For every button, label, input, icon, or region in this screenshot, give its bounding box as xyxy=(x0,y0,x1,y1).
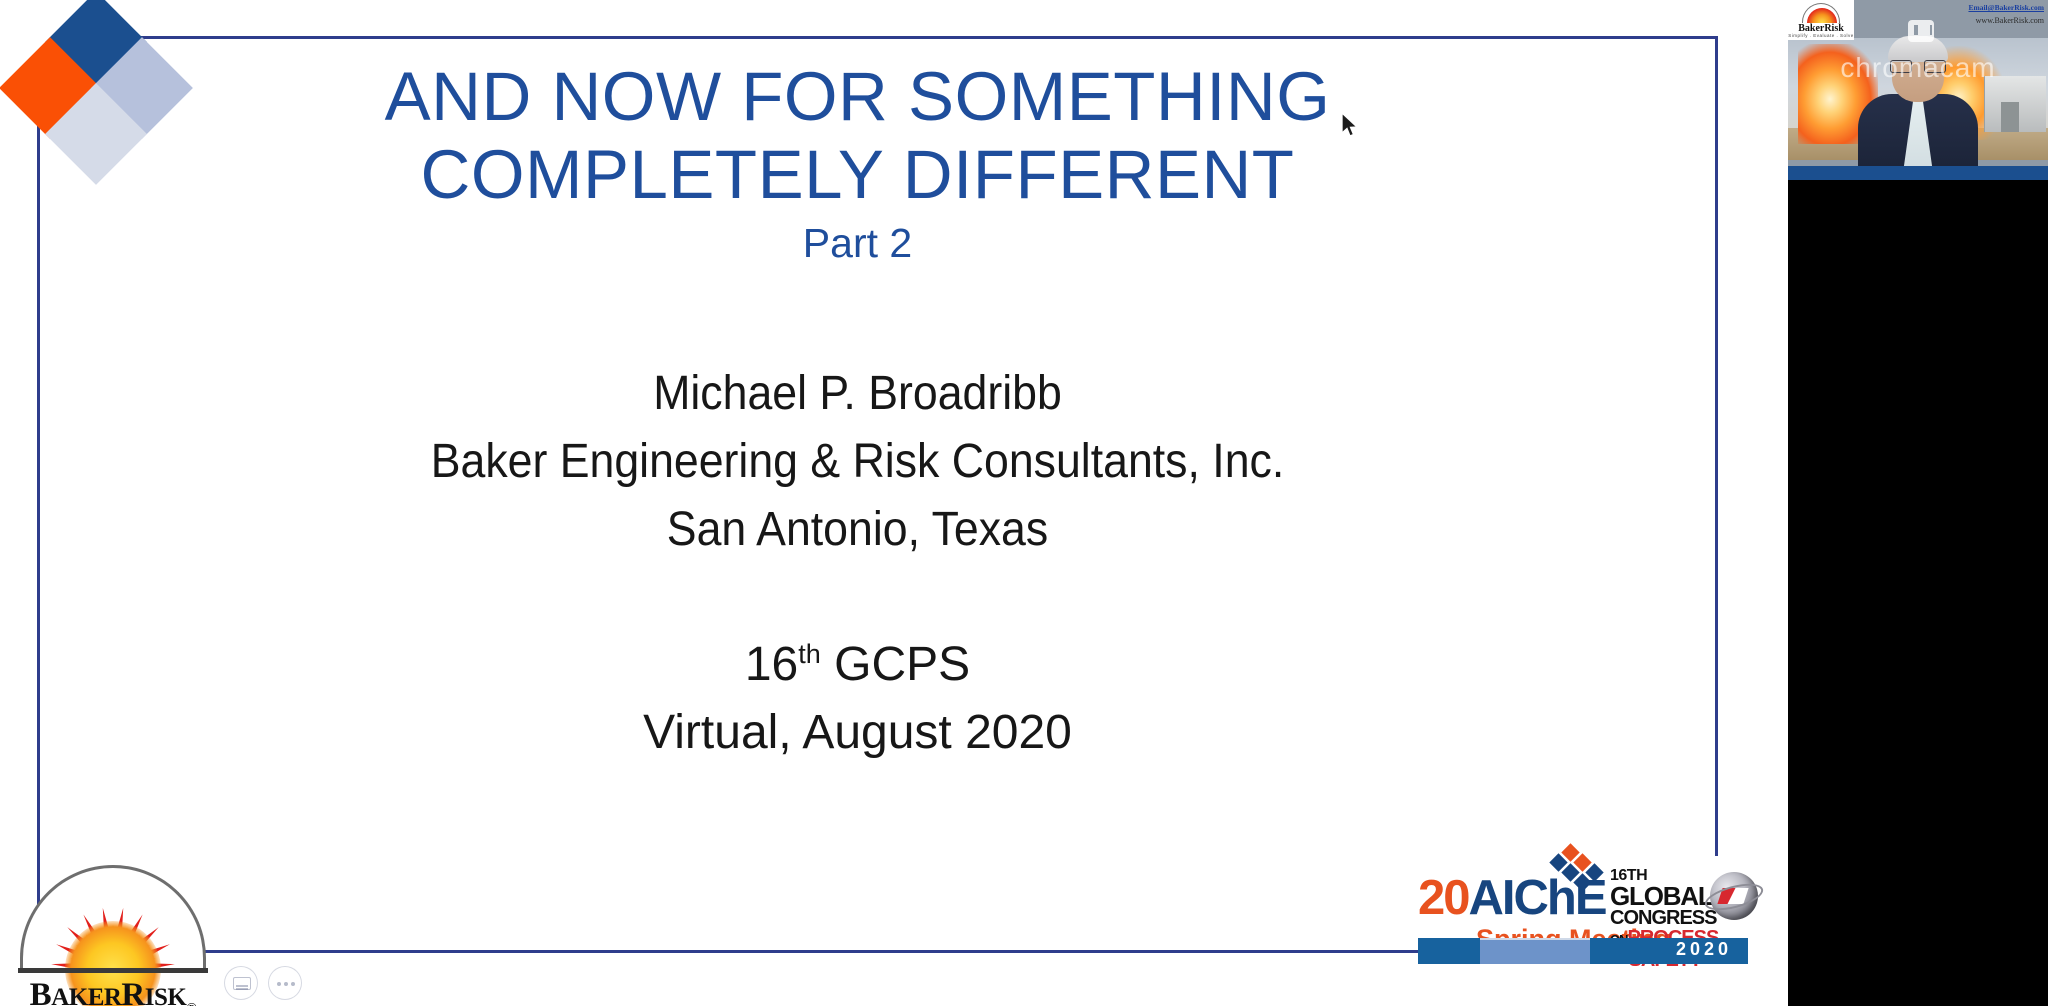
bakerrisk-word-isk: ISK xyxy=(145,984,187,1006)
chromacam-badge-icon xyxy=(1908,20,1934,42)
gcps-global-label: GLOBAL xyxy=(1610,884,1720,908)
aiche-bar-segment-1 xyxy=(1418,938,1480,964)
right-black-panel: BakerRisk Simplify . Evaluate . Solve Em… xyxy=(1788,0,2048,1006)
ellipsis-icon xyxy=(277,982,295,986)
bakerrisk-wordmark: BAKERRISK® xyxy=(8,977,218,1006)
slide-title-line-1: AND NOW FOR SOMETHING xyxy=(0,58,1715,136)
screen: AND NOW FOR SOMETHING COMPLETELY DIFFERE… xyxy=(0,0,2048,1006)
video-contact-links: Email@BakerRisk.com www.BakerRisk.com xyxy=(1968,3,2044,25)
video-bottom-bar xyxy=(1788,166,2048,180)
aiche-footer-bar: 2020 xyxy=(1418,938,1748,964)
slide-frame-right-line xyxy=(1715,36,1718,856)
mouse-cursor-icon xyxy=(1341,112,1361,140)
conference-ordinal: th xyxy=(798,639,821,669)
presentation-slide[interactable]: AND NOW FOR SOMETHING COMPLETELY DIFFERE… xyxy=(0,0,1788,1006)
conference-title: 16th GCPS xyxy=(0,620,1715,699)
video-background-building xyxy=(1984,76,2046,132)
conference-name: GCPS xyxy=(821,638,970,691)
aiche-bar-segment-2 xyxy=(1480,938,1590,964)
aiche-year-label: 2020 xyxy=(1676,939,1732,960)
bakerrisk-logo: BAKERRISK® xyxy=(8,865,218,1000)
video-website-link[interactable]: www.BakerRisk.com xyxy=(1968,16,2044,25)
chromacam-watermark: chromacam xyxy=(1788,52,2048,84)
video-bakerrisk-tagline: Simplify . Evaluate . Solve xyxy=(1788,33,1854,38)
notes-panel-button[interactable] xyxy=(224,966,258,1000)
speaker-video-tile[interactable]: BakerRisk Simplify . Evaluate . Solve Em… xyxy=(1788,0,2048,180)
slide-subtitle: Part 2 xyxy=(0,214,1715,272)
aiche-year-20: 20 xyxy=(1418,871,1469,925)
slide-venue-block: 16th GCPS Virtual, August 2020 xyxy=(0,620,1715,767)
registered-mark-icon: ® xyxy=(186,1002,196,1006)
slide-title-line-2: COMPLETELY DIFFERENT xyxy=(0,136,1715,214)
video-bakerrisk-dome-icon xyxy=(1802,3,1840,23)
slide-author-block: Michael P. Broadribb Baker Engineering &… xyxy=(0,360,1715,564)
gcps-congress-label: CONGRESS xyxy=(1610,908,1720,928)
author-location: San Antonio, Texas xyxy=(60,496,1655,564)
slide-frame-bottom-line xyxy=(205,950,1420,953)
more-options-button[interactable] xyxy=(268,966,302,1000)
author-name: Michael P. Broadribb xyxy=(60,360,1655,428)
bakerrisk-word-r: R xyxy=(121,977,144,1006)
video-bakerrisk-logo: BakerRisk Simplify . Evaluate . Solve xyxy=(1788,0,1854,40)
bakerrisk-dome-base xyxy=(18,968,208,973)
aiche-bar-segment-3: 2020 xyxy=(1590,938,1748,964)
conference-venue: Virtual, August 2020 xyxy=(0,699,1715,767)
video-email-link[interactable]: Email@BakerRisk.com xyxy=(1968,3,2044,12)
bakerrisk-word-b: B xyxy=(30,977,52,1006)
slide-frame-top-line xyxy=(88,36,1718,39)
conference-number: 16 xyxy=(745,638,798,691)
bakerrisk-word-aker: AKER xyxy=(51,984,121,1006)
notes-icon xyxy=(233,977,251,990)
author-organization: Baker Engineering & Risk Consultants, In… xyxy=(60,428,1655,496)
aiche-name: AIChE xyxy=(1469,871,1606,925)
slide-title-block: AND NOW FOR SOMETHING COMPLETELY DIFFERE… xyxy=(0,58,1715,272)
